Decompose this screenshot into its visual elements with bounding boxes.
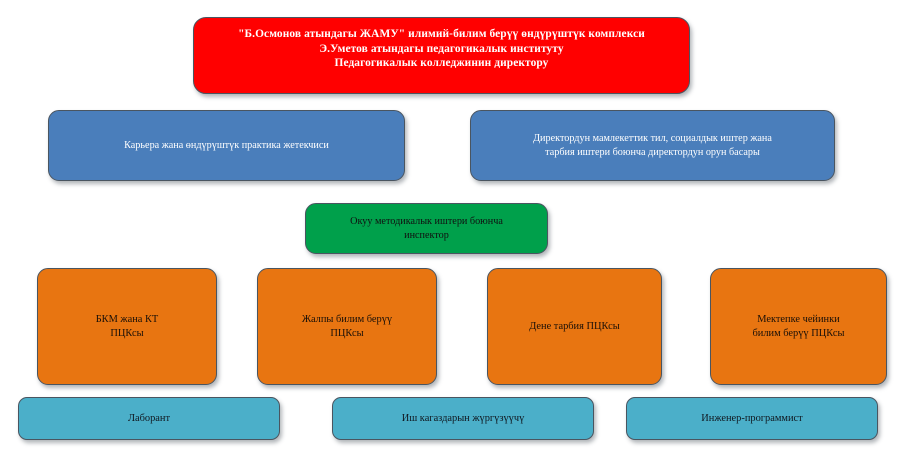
node-career-practice-head[interactable]: Карьера жана өндүрүштүк практика жетекчи…	[48, 110, 405, 181]
node-software-engineer[interactable]: Инженер-программист	[626, 397, 878, 440]
node-office-clerk[interactable]: Иш кагаздарын жүргүзүүчү	[332, 397, 594, 440]
node-dept-general-education[interactable]: Жалпы билим берүү ПЦКсы	[257, 268, 437, 385]
node-dept-physical-education[interactable]: Дене тарбия ПЦКсы	[487, 268, 662, 385]
org-chart-canvas: "Б.Осмонов атындагы ЖАМУ" илимий-билим б…	[0, 0, 900, 473]
node-director[interactable]: "Б.Осмонов атындагы ЖАМУ" илимий-билим б…	[193, 17, 690, 94]
node-deputy-director[interactable]: Директордун мамлекеттик тил, социалдык и…	[470, 110, 835, 181]
node-laboratory-assistant[interactable]: Лаборант	[18, 397, 280, 440]
node-dept-preschool-education[interactable]: Мектепке чейинки билим берүү ПЦКсы	[710, 268, 887, 385]
node-methodical-inspector[interactable]: Окуу методикалык иштери боюнча инспектор	[305, 203, 548, 254]
node-dept-bkm-kt[interactable]: БКМ жана КТ ПЦКсы	[37, 268, 217, 385]
